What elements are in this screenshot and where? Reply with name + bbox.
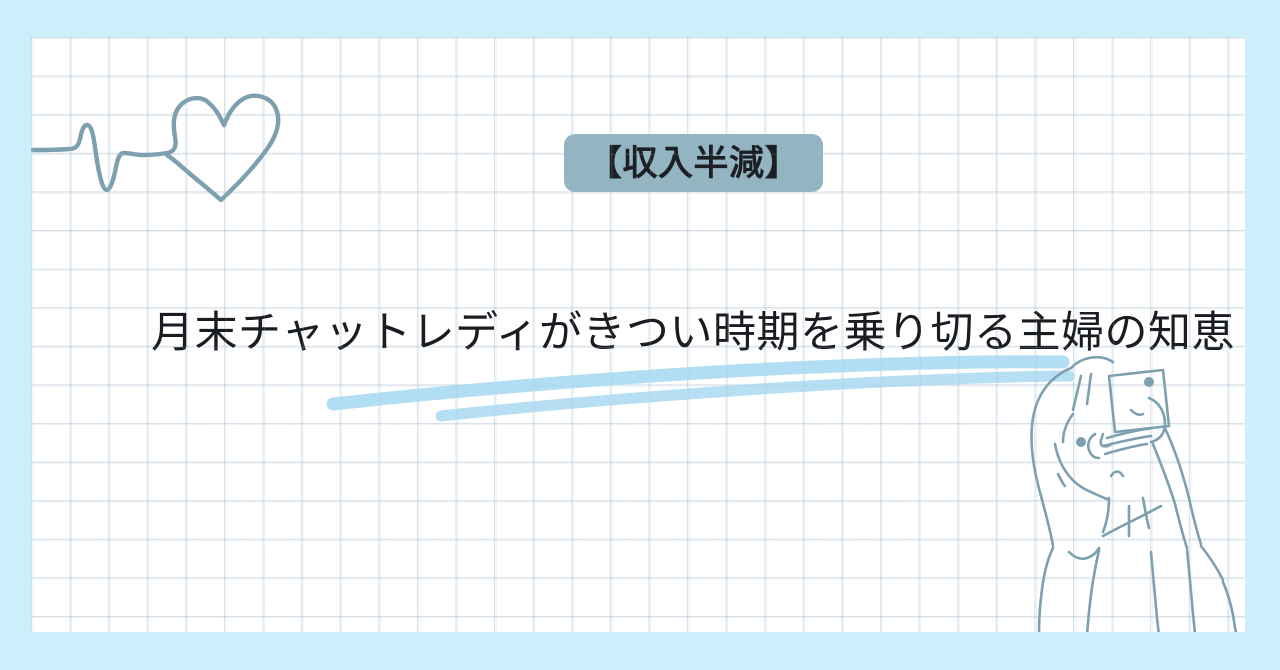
page-title-container: 月末チャットレディがきつい時期を乗り切る主婦の知恵	[151, 299, 1151, 369]
woman-holding-phone-line-art-icon	[1003, 346, 1245, 632]
eyecatch-banner: 【収入半減】 月末チャットレディがきつい時期を乗り切る主婦の知恵	[0, 0, 1280, 670]
status-badge-label: 【収入半減】	[587, 146, 800, 181]
graph-paper-sheet: 【収入半減】 月末チャットレディがきつい時期を乗り切る主婦の知恵	[31, 37, 1245, 632]
status-badge: 【収入半減】	[564, 134, 823, 192]
page-title: 月末チャットレディがきつい時期を乗り切る主婦の知恵	[151, 310, 1235, 358]
heartbeat-heart-doodle-icon	[31, 67, 291, 207]
